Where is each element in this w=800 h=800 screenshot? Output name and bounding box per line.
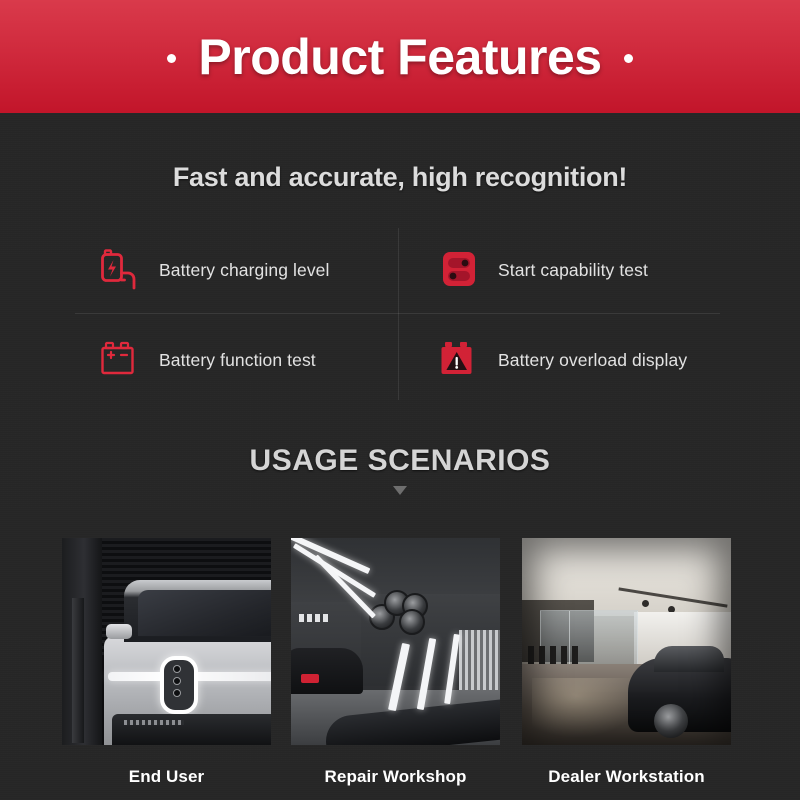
scenario-caption: Repair Workshop <box>291 767 500 787</box>
repair-workshop-photo <box>291 538 500 745</box>
feature-label: Battery function test <box>159 350 316 371</box>
toggle-switches-icon <box>437 247 481 293</box>
feature-item-start-capability-test: Start capability test <box>437 230 757 310</box>
scenario-caption: End User <box>62 767 271 787</box>
battery-warning-icon <box>437 337 481 383</box>
product-features-page: Product Features Fast and accurate, high… <box>0 0 800 800</box>
feature-item-battery-overload-display: Battery overload display <box>437 320 757 400</box>
page-header: Product Features <box>0 0 800 113</box>
feature-label: Start capability test <box>498 260 648 281</box>
scenario-caption: Dealer Workstation <box>522 767 731 787</box>
page-title: Product Features <box>198 32 601 82</box>
feature-item-battery-charging-level: Battery charging level <box>98 230 418 310</box>
usage-scenario-cards: End User <box>62 538 740 788</box>
subtitle-text: Fast and accurate, high recognition! <box>0 162 800 193</box>
header-dot-right-icon <box>624 54 633 63</box>
feature-item-battery-function-test: Battery function test <box>98 320 418 400</box>
dealer-showroom-photo <box>522 538 731 745</box>
battery-charging-icon <box>98 247 142 293</box>
feature-label: Battery charging level <box>159 260 329 281</box>
usage-scenarios-heading: USAGE SCENARIOS <box>0 444 800 478</box>
feature-label: Battery overload display <box>498 350 687 371</box>
header-dot-left-icon <box>167 54 176 63</box>
scenario-card-repair-workshop[interactable]: Repair Workshop <box>291 538 500 787</box>
caret-down-icon <box>393 486 407 495</box>
scenario-card-dealer-workstation[interactable]: Dealer Workstation <box>522 538 731 787</box>
features-grid: Battery charging level Start capability … <box>75 228 720 403</box>
scenario-card-end-user[interactable]: End User <box>62 538 271 787</box>
ev-pickup-in-garage-photo <box>62 538 271 745</box>
car-battery-icon <box>98 337 142 383</box>
